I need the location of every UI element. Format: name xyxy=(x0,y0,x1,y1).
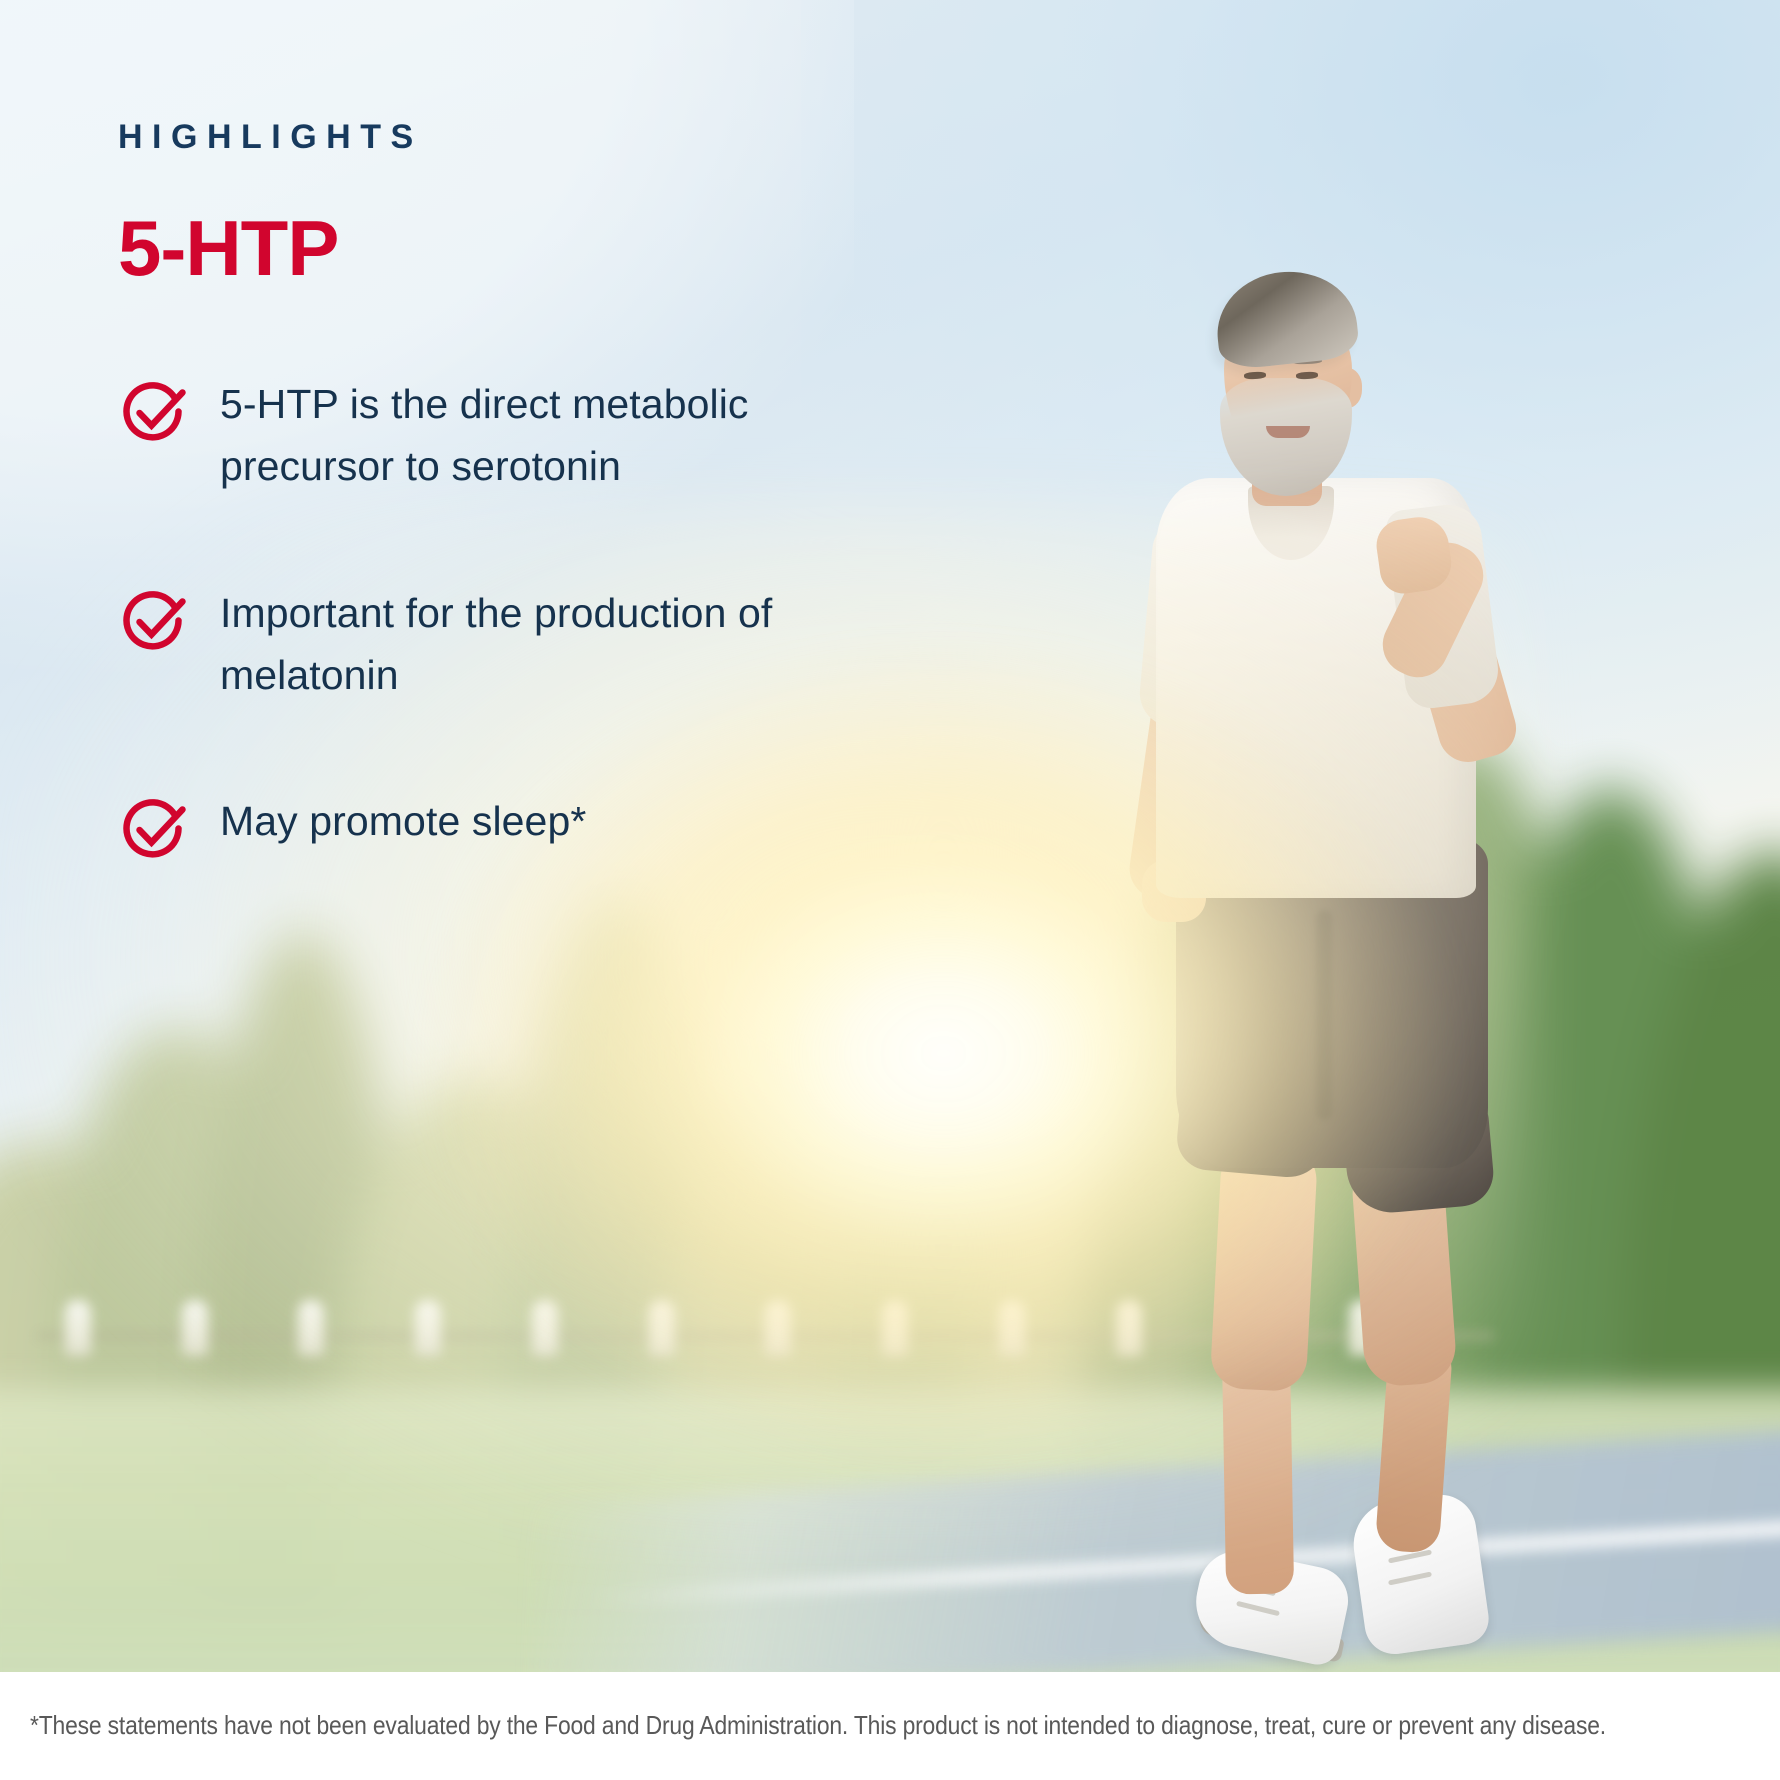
list-item-label: May promote sleep* xyxy=(220,790,586,852)
list-item: 5-HTP is the direct metabolic precursor … xyxy=(118,373,1000,498)
left-thigh xyxy=(1210,1138,1319,1393)
hair xyxy=(1212,265,1361,371)
list-item: Important for the production of melatoni… xyxy=(118,582,1000,707)
list-item-label: 5-HTP is the direct metabolic precursor … xyxy=(220,373,880,498)
runner-figure xyxy=(1120,250,1680,1630)
marketing-highlight-card: HIGHLIGHTS 5-HTP 5-HTP is the direct met… xyxy=(0,0,1780,1780)
shorts-fold xyxy=(1316,910,1332,1120)
mouth xyxy=(1266,426,1310,438)
list-item-label: Important for the production of melatoni… xyxy=(220,582,880,707)
footer-band: *These statements have not been evaluate… xyxy=(0,1672,1780,1780)
fda-disclaimer: *These statements have not been evaluate… xyxy=(30,1710,1606,1741)
highlights-list: 5-HTP is the direct metabolic precursor … xyxy=(118,373,1000,864)
page-title: 5-HTP xyxy=(118,209,1000,287)
check-circle-icon xyxy=(118,792,190,864)
section-kicker: HIGHLIGHTS xyxy=(118,118,1000,157)
list-item: May promote sleep* xyxy=(118,790,1000,864)
check-circle-icon xyxy=(118,375,190,447)
highlights-panel: HIGHLIGHTS 5-HTP 5-HTP is the direct met… xyxy=(0,0,1000,864)
check-circle-icon xyxy=(118,584,190,656)
